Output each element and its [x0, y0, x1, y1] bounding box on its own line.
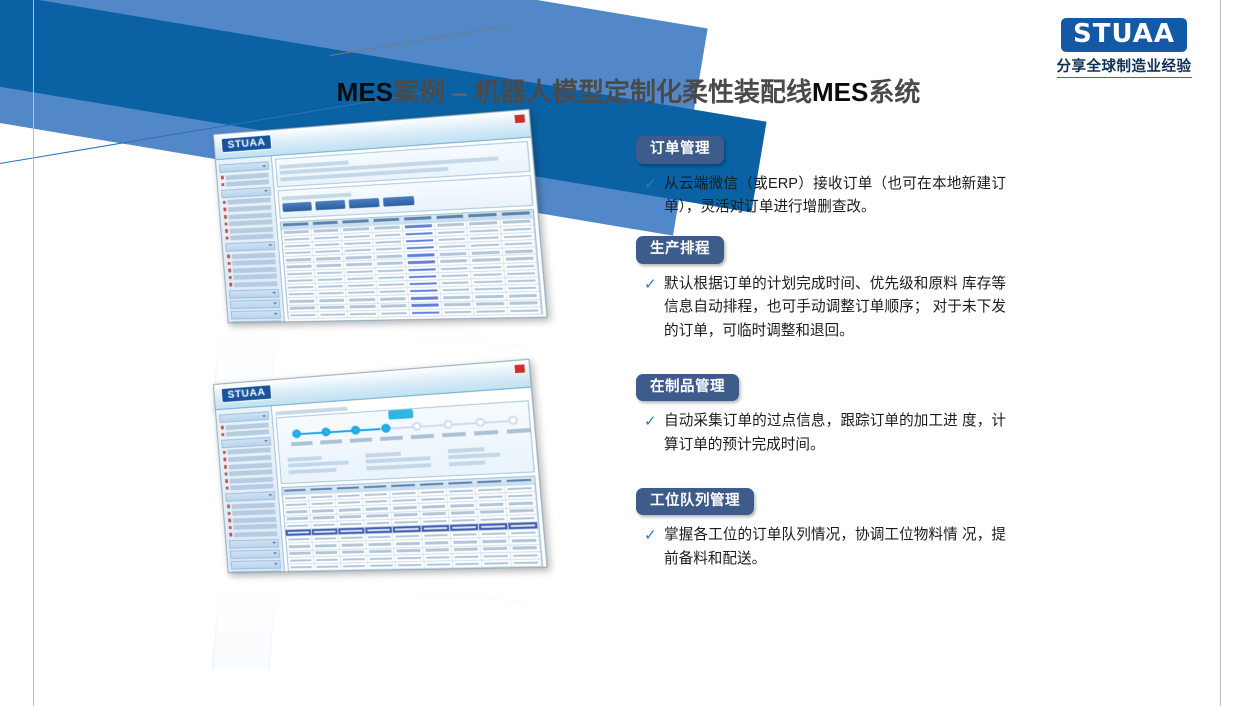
sidebar-item[interactable]	[233, 517, 277, 523]
step-dot[interactable]	[321, 427, 331, 436]
app-content-1	[272, 138, 547, 323]
toolbar-button[interactable]	[315, 199, 345, 209]
close-icon[interactable]	[513, 113, 526, 124]
progress-panel	[276, 400, 535, 484]
app-logo-2: STUAA	[221, 384, 273, 403]
feature-bullet: ✓ 从云端微信（或ERP）接收订单（也可在本地新建订单），灵活对订单进行增删查改…	[644, 173, 1006, 220]
page-title-mid: 案例	[393, 77, 445, 107]
footer-button[interactable]	[431, 322, 464, 323]
feature-text-order-management: 从云端微信（或ERP）接收订单（也可在本地新建订单），灵活对订单进行增删查改。	[664, 173, 1006, 220]
sidebar-item[interactable]	[229, 469, 272, 476]
sidebar-item[interactable]	[229, 219, 272, 226]
app-window-2-body	[216, 388, 547, 574]
sidebar-item[interactable]	[230, 227, 273, 234]
sidebar-item[interactable]	[227, 198, 270, 205]
page-title-dash: –	[452, 77, 466, 107]
page-title-tail-lat: MES	[812, 77, 868, 107]
step-dot[interactable]	[443, 420, 453, 430]
sidebar-item[interactable]	[232, 252, 276, 258]
screenshot-order-management: STUAA	[196, 128, 546, 378]
sidebar-item[interactable]	[228, 455, 271, 462]
toolbar-button[interactable]	[349, 197, 380, 207]
feature-bullet: ✓ 自动采集订单的过点信息，跟踪订单的加工进 度，计算订单的预计完成时间。	[644, 410, 1006, 457]
step-tooltip	[388, 409, 413, 420]
sidebar-item[interactable]	[226, 429, 269, 436]
sidebar-group[interactable]	[221, 437, 271, 448]
page-title-lead: MES	[337, 77, 393, 107]
check-icon: ✓	[644, 273, 664, 344]
sidebar-item[interactable]	[229, 462, 272, 469]
sidebar-item[interactable]	[226, 179, 269, 186]
sidebar-item[interactable]	[230, 477, 273, 484]
sidebar-item[interactable]	[227, 448, 270, 455]
sidebar-item[interactable]	[225, 422, 268, 430]
step-dot[interactable]	[412, 422, 422, 432]
sidebar-item[interactable]	[233, 524, 277, 530]
sidebar-item[interactable]	[228, 205, 271, 212]
sidebar-item[interactable]	[232, 509, 276, 515]
screenshot-order-management-frame: STUAA	[196, 101, 545, 324]
app-window-1-body	[216, 138, 547, 324]
feature-badge-order-management[interactable]: 订单管理	[636, 136, 724, 164]
app-content-2	[272, 388, 547, 573]
toolbar-buttons	[282, 189, 528, 211]
sidebar-item[interactable]	[230, 234, 273, 241]
step-dot[interactable]	[381, 424, 391, 433]
sidebar-group[interactable]	[231, 309, 281, 319]
orders-table	[280, 208, 543, 319]
sidebar-group[interactable]	[231, 559, 281, 569]
sidebar-group[interactable]	[221, 187, 271, 198]
brand-logo-text: STUAA	[1061, 18, 1187, 52]
feature-badge-production-scheduling[interactable]: 生产排程	[636, 236, 724, 264]
check-icon: ✓	[644, 173, 664, 220]
feature-list: 订单管理 ✓ 从云端微信（或ERP）接收订单（也可在本地新建订单），灵活对订单进…	[636, 136, 1006, 575]
step-dot[interactable]	[292, 429, 301, 438]
sidebar-item[interactable]	[232, 502, 276, 508]
page-title-tail: 系统	[868, 77, 920, 107]
step-dot[interactable]	[508, 415, 519, 425]
footer-button[interactable]	[395, 323, 427, 324]
feature-text-production-scheduling: 默认根据订单的计划完成时间、优先级和原料 库存等信息自动排程，也可手动调整订单顺…	[664, 273, 1006, 344]
screenshot-wip-tracking-frame: STUAA	[196, 351, 545, 574]
sidebar-item[interactable]	[230, 484, 273, 491]
sidebar-group[interactable]	[229, 288, 279, 298]
feature-bullet: ✓ 掌握各工位的订单队列情况，协调工位物料情 况，提前备料和配送。	[644, 524, 1006, 571]
sidebar-group[interactable]	[230, 549, 280, 559]
sidebar-item[interactable]	[234, 281, 278, 287]
sidebar-group[interactable]	[231, 570, 281, 573]
sidebar-group[interactable]	[229, 538, 279, 548]
step-dot[interactable]	[351, 425, 361, 434]
sidebar-group[interactable]	[225, 491, 275, 502]
sidebar-group[interactable]	[219, 161, 269, 173]
close-icon[interactable]	[513, 363, 526, 374]
sidebar-item[interactable]	[229, 212, 272, 219]
feature-production-scheduling: 生产排程 ✓ 默认根据订单的计划完成时间、优先级和原料 库存等信息自动排程，也可…	[636, 236, 1006, 344]
order-info	[287, 442, 524, 476]
sidebar-item[interactable]	[233, 274, 277, 280]
page-title: MES案例 – 机器人模型定制化柔性装配线MES系统	[0, 72, 1257, 109]
slide-canvas: STUAA 分享全球制造业经验 MES案例 – 机器人模型定制化柔性装配线MES…	[0, 0, 1257, 706]
toolbar-button[interactable]	[383, 196, 415, 207]
feature-bullet: ✓ 默认根据订单的计划完成时间、优先级和原料 库存等信息自动排程，也可手动调整订…	[644, 273, 1006, 344]
sidebar-item[interactable]	[232, 259, 276, 265]
footer-buttons	[288, 321, 544, 324]
sidebar-item[interactable]	[225, 172, 268, 180]
feature-text-station-queue-management: 掌握各工位的订单队列情况，协调工位物料情 况，提前备料和配送。	[664, 524, 1006, 571]
sidebar-group[interactable]	[225, 241, 275, 252]
feature-wip-management: 在制品管理 ✓ 自动采集订单的过点信息，跟踪订单的加工进 度，计算订单的预计完成…	[636, 374, 1006, 458]
wip-table	[281, 476, 544, 574]
check-icon: ✓	[644, 410, 664, 457]
feature-station-queue-management: 工位队列管理 ✓ 掌握各工位的订单队列情况，协调工位物料情 况，提前备料和配送。	[636, 488, 1006, 572]
brand-logo: STUAA 分享全球制造业经验	[1031, 18, 1217, 78]
sidebar-item[interactable]	[234, 531, 278, 537]
app-window-2: STUAA	[213, 359, 548, 574]
sidebar-group[interactable]	[231, 320, 281, 323]
app-window-1: STUAA	[213, 109, 548, 324]
screenshot-2-reflection: STUAA	[196, 583, 526, 669]
check-icon: ✓	[644, 524, 664, 571]
step-dot[interactable]	[475, 418, 486, 428]
sidebar-item[interactable]	[233, 267, 277, 273]
feature-order-management: 订单管理 ✓ 从云端微信（或ERP）接收订单（也可在本地新建订单），灵活对订单进…	[636, 136, 1006, 220]
app-logo-1: STUAA	[221, 134, 273, 153]
screenshot-wip-tracking: STUAA	[196, 378, 546, 633]
feature-badge-station-queue-management[interactable]: 工位队列管理	[636, 488, 754, 516]
sidebar-group[interactable]	[219, 411, 269, 423]
sidebar-group[interactable]	[230, 299, 280, 309]
feature-text-wip-management: 自动采集订单的过点信息，跟踪订单的加工进 度，计算订单的预计完成时间。	[664, 410, 1006, 457]
feature-badge-wip-management[interactable]: 在制品管理	[636, 374, 739, 402]
toolbar-button[interactable]	[282, 201, 312, 211]
